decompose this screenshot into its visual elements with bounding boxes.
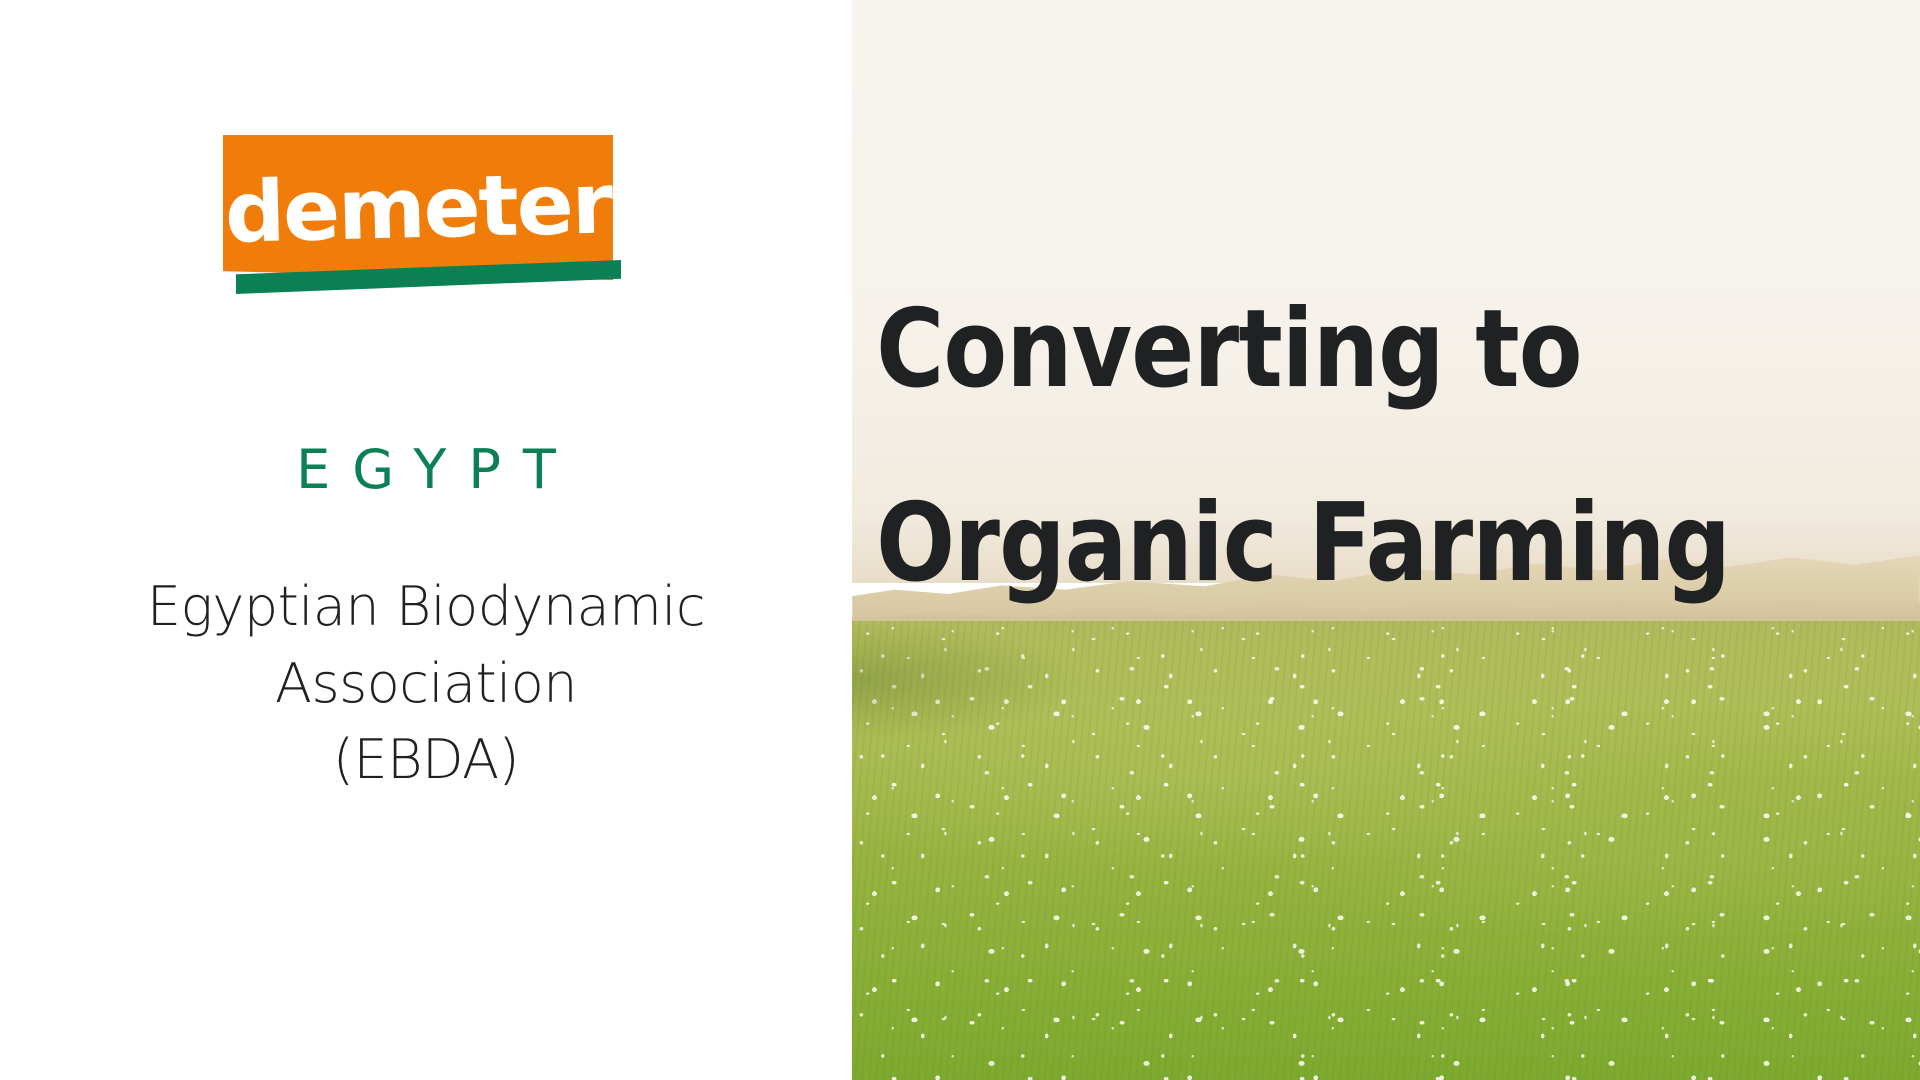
presentation-slide: demeter EGYPT Egyptian Biodynamic Associ… — [0, 0, 1920, 1080]
organisation-name-line-1: Egyptian Biodynamic — [106, 569, 746, 646]
right-photo-panel: Converting to Organic Farming — [852, 0, 1920, 1080]
logo-country-label: EGYPT — [274, 438, 578, 501]
slide-title-line-2: Organic Farming — [876, 462, 1755, 626]
organisation-name-line-3: (EBDA) — [106, 722, 746, 799]
left-branding-panel: demeter EGYPT Egyptian Biodynamic Associ… — [0, 0, 852, 1080]
demeter-wordmark: demeter — [221, 130, 614, 284]
field-shadow — [852, 621, 1087, 740]
slide-title-line-1: Converting to — [876, 268, 1755, 432]
organisation-name: Egyptian Biodynamic Association (EBDA) — [106, 569, 746, 799]
clover-field — [852, 621, 1920, 1080]
demeter-logo: demeter — [176, 120, 676, 420]
slide-title: Converting to Organic Farming — [852, 268, 1770, 626]
organisation-name-line-2: Association — [106, 646, 746, 723]
